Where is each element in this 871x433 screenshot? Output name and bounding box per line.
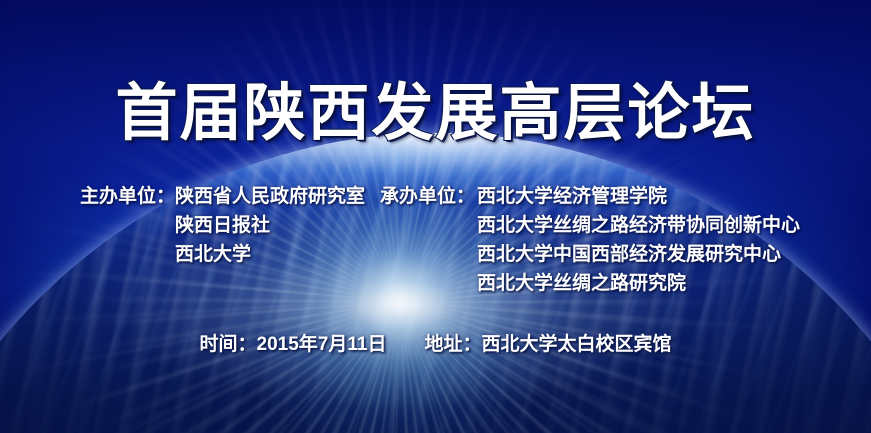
event-details-footer: 时间： 2015年7月11日 地址： 西北大学太白校区宾馆 — [0, 331, 871, 359]
banner-content: 首届陕西发展高层论坛 主办单位： 陕西省人民政府研究室 陕西日报社 西北大学 — [0, 0, 871, 433]
cohost-organizer-spacer — [380, 211, 477, 240]
event-time-value: 2015年7月11日 — [257, 331, 387, 359]
host-organizer-label: 主办单位： — [80, 182, 175, 211]
event-address-label: 地址： — [424, 331, 481, 359]
host-organizer-spacer — [80, 211, 175, 240]
host-organizer-row: 主办单位： 陕西省人民政府研究室 — [80, 182, 380, 211]
host-organizer-item: 陕西省人民政府研究室 — [175, 182, 380, 211]
host-organizer-row: 陕西日报社 — [80, 211, 380, 240]
cohost-organizer-row: 承办单位： 西北大学经济管理学院 — [380, 182, 840, 211]
cohost-organizer-spacer — [380, 240, 477, 269]
banner-title: 首届陕西发展高层论坛 — [0, 78, 871, 150]
cohost-organizer-column: 承办单位： 西北大学经济管理学院 西北大学丝绸之路经济带协同创新中心 西北大学中… — [380, 182, 840, 298]
cohost-organizer-row: 西北大学中国西部经济发展研究中心 — [380, 240, 840, 269]
organizers-section: 主办单位： 陕西省人民政府研究室 陕西日报社 西北大学 承办单位： 西北大学经济… — [80, 182, 840, 298]
event-address-value: 西北大学太白校区宾馆 — [481, 331, 671, 359]
cohost-organizer-spacer — [380, 269, 477, 298]
cohost-organizer-label: 承办单位： — [380, 182, 477, 211]
cohost-organizer-item: 西北大学中国西部经济发展研究中心 — [477, 240, 840, 269]
cohost-organizer-row: 西北大学丝绸之路经济带协同创新中心 — [380, 211, 840, 240]
host-organizer-item: 西北大学 — [175, 240, 380, 269]
event-time-label: 时间： — [200, 331, 257, 359]
cohost-organizer-item: 西北大学经济管理学院 — [477, 182, 840, 211]
event-time: 时间： 2015年7月11日 — [200, 331, 387, 359]
host-organizer-row: 西北大学 — [80, 240, 380, 269]
host-organizer-spacer — [80, 240, 175, 269]
cohost-organizer-item: 西北大学丝绸之路研究院 — [477, 269, 840, 298]
cohost-organizer-row: 西北大学丝绸之路研究院 — [380, 269, 840, 298]
cohost-organizer-item: 西北大学丝绸之路经济带协同创新中心 — [477, 211, 840, 240]
conference-banner: 首届陕西发展高层论坛 主办单位： 陕西省人民政府研究室 陕西日报社 西北大学 — [0, 0, 871, 433]
host-organizer-column: 主办单位： 陕西省人民政府研究室 陕西日报社 西北大学 — [80, 182, 380, 298]
host-organizer-item: 陕西日报社 — [175, 211, 380, 240]
event-address: 地址： 西北大学太白校区宾馆 — [424, 331, 671, 359]
